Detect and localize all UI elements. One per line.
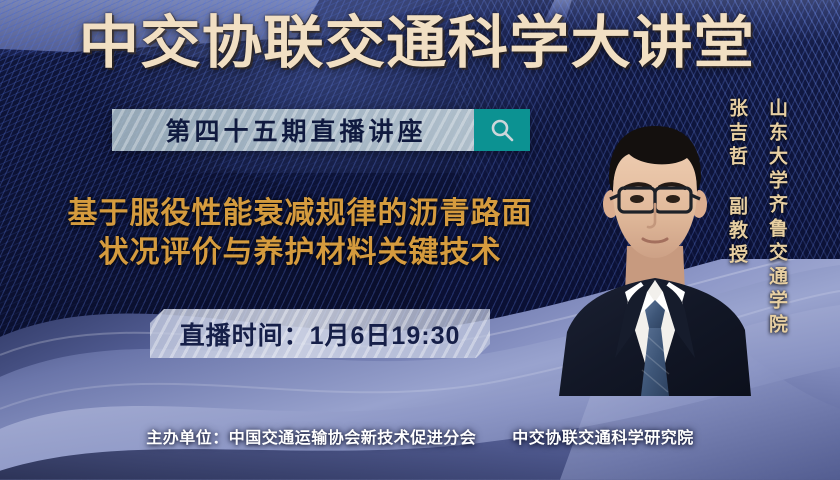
footer-organizer: 主办单位：中国交通运输协会新技术促进分会 xyxy=(146,430,476,447)
live-lecture-poster: 中交协联交通科学大讲堂 第四十五期直播讲座 基于服役性能衰减规律的沥青路面 状况… xyxy=(0,0,840,480)
episode-banner: 第四十五期直播讲座 xyxy=(112,109,530,151)
broadcast-time-text: 直播时间：1月6日19:30 xyxy=(180,316,461,352)
episode-label-box: 第四十五期直播讲座 xyxy=(112,109,474,151)
footer-institute: 中交协联交通科学研究院 xyxy=(512,430,694,447)
page-title: 中交协联交通科学大讲堂 xyxy=(0,12,840,74)
broadcast-time-badge: 直播时间：1月6日19:30 xyxy=(150,309,490,358)
lecture-title-line1: 基于服役性能衰减规律的沥青路面 xyxy=(68,197,533,230)
search-button[interactable] xyxy=(474,109,530,151)
lecture-title: 基于服役性能衰减规律的沥青路面 状况评价与养护材料关键技术 xyxy=(22,194,578,272)
speaker-organization: 山东大学齐鲁交通学院 xyxy=(763,98,790,338)
lecture-title-line2: 状况评价与养护材料关键技术 xyxy=(22,233,578,272)
episode-label: 第四十五期直播讲座 xyxy=(159,112,426,148)
footer: 主办单位：中国交通运输协会新技术促进分会 中交协联交通科学研究院 xyxy=(0,424,840,448)
search-icon xyxy=(488,116,516,144)
speaker-name-title: 张吉哲 副教授 xyxy=(723,98,750,268)
